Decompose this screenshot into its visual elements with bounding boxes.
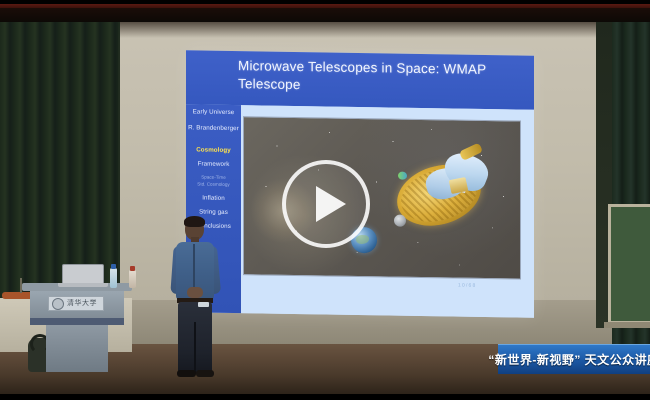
letterbox-bottom — [0, 394, 650, 400]
speaker — [168, 218, 224, 378]
speaker-shoe-left — [177, 370, 196, 377]
slide-page-number: 10/68 — [458, 283, 477, 289]
podium-plaque: 清华大学 — [48, 296, 104, 311]
play-triangle-icon — [316, 186, 346, 222]
play-button[interactable] — [282, 160, 370, 248]
sidebar-item-inflation: Inflation — [188, 194, 239, 203]
sidebar-subitem-space-time: Space-Time — [188, 174, 239, 181]
letterbox-top — [0, 0, 650, 4]
chalkboard-tray — [604, 322, 650, 328]
water-bottle-2-cap — [130, 266, 135, 271]
sidebar-item-framework: Framework — [188, 160, 239, 169]
slide-title: Microwave Telescopes in Space: WMAP Tele… — [238, 57, 528, 98]
water-bottle-2 — [129, 270, 136, 288]
podium-base — [46, 325, 108, 372]
podium-band — [30, 318, 124, 325]
moon — [394, 215, 406, 227]
chalkboard — [608, 204, 650, 324]
solar-array-highlight — [398, 172, 407, 180]
speaker-pocket-item — [198, 302, 209, 307]
water-bottle-1-cap — [111, 264, 116, 269]
stage-valance-shadow — [0, 8, 650, 22]
water-bottle-1 — [110, 268, 117, 288]
speaker-leg-gap — [194, 322, 196, 374]
video-frame: Microwave Telescopes in Space: WMAP Tele… — [0, 0, 650, 400]
lecture-series-banner: “新世界-新视野” 天文公众讲座 — [498, 344, 650, 374]
sidebar-item-cosmology: Cosmology — [188, 146, 239, 155]
wmap-satellite — [392, 130, 512, 252]
sidebar-item-early-universe: Early Universe — [188, 108, 239, 117]
sidebar-subitem-std-cosmology: Std. Cosmology — [188, 181, 239, 188]
speaker-shoe-right — [196, 370, 214, 377]
university-emblem-icon — [52, 298, 64, 310]
podium-plaque-text: 清华大学 — [67, 300, 97, 307]
speaker-hands — [187, 287, 203, 298]
speaker-hair — [184, 216, 205, 227]
laptop-base — [58, 283, 108, 287]
laptop-screen — [62, 264, 104, 284]
lecture-series-banner-text: “新世界-新视野” 天文公众讲座 — [488, 351, 650, 368]
sidebar-item-author: R. Brandenberger — [188, 124, 239, 133]
